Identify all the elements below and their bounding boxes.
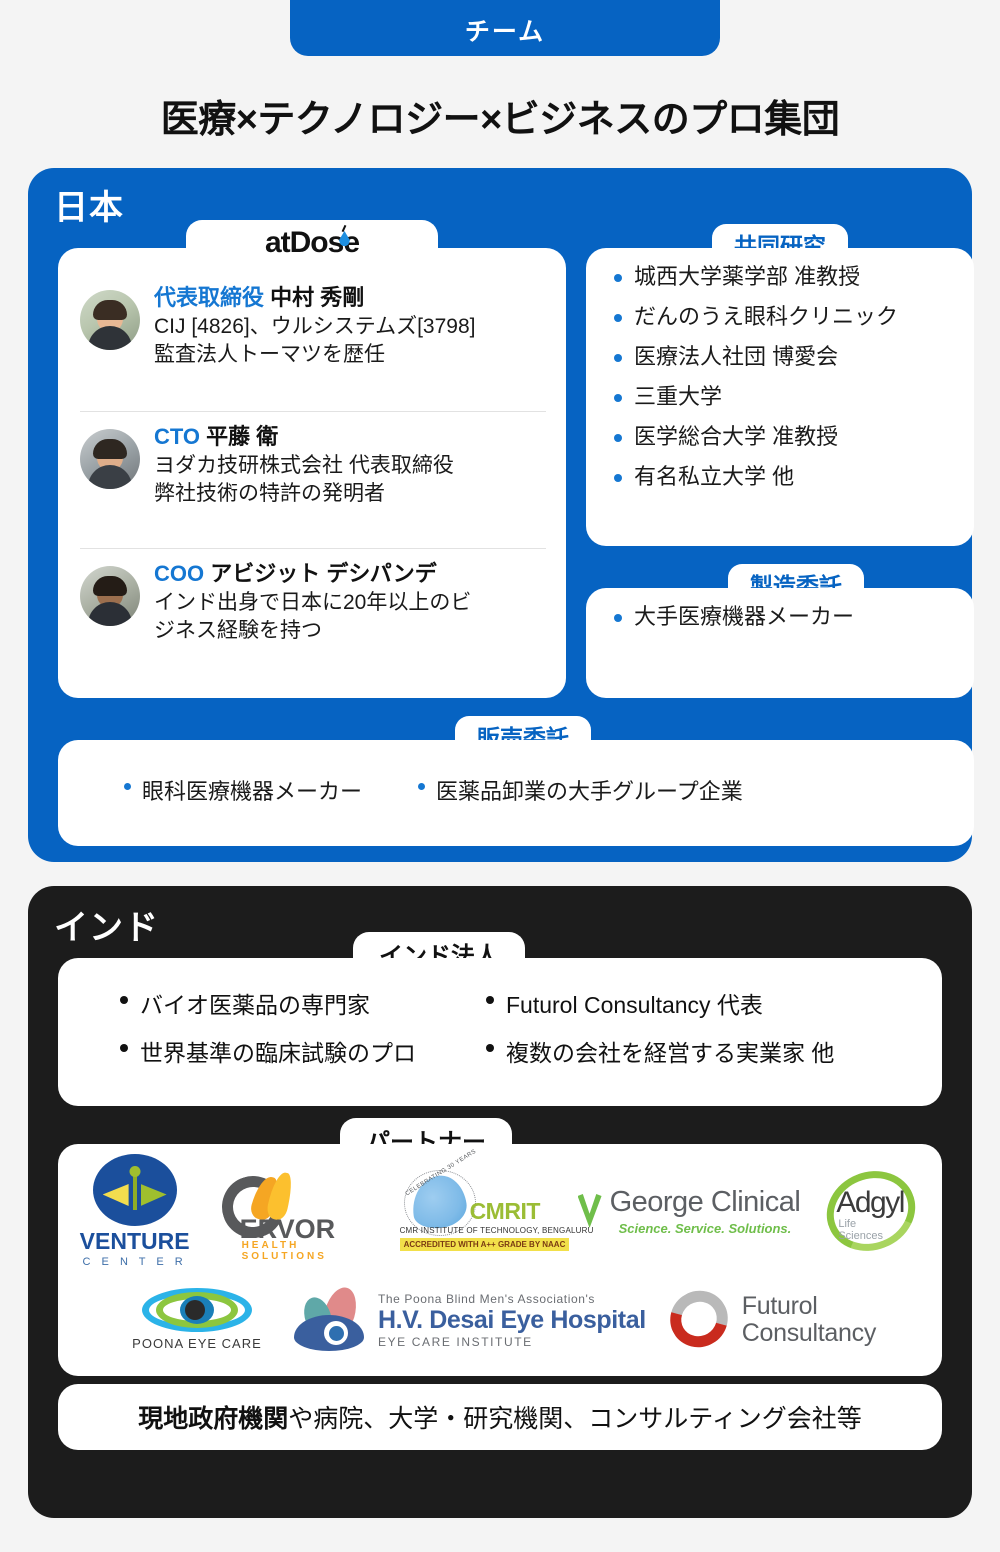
member-desc-line1: CIJ [4826]、ウルシステムズ[3798] xyxy=(154,313,548,340)
poona-eye-care-name: POONA EYE CARE xyxy=(124,1336,270,1351)
team-member-row: CTO 平藤 衛 ヨダカ技研株式会社 代表取締役 弊社技術の特許の発明者 xyxy=(80,423,548,508)
wing-right-icon xyxy=(141,1184,167,1206)
japan-panel-title: 日本 xyxy=(54,180,124,229)
list-item: 三重大学 xyxy=(612,386,952,408)
hv-desai-line3: EYE CARE INSTITUTE xyxy=(378,1335,646,1349)
manufacturing-card: 大手医療機器メーカー xyxy=(586,588,974,698)
arrow-bottom-icon xyxy=(660,1280,738,1357)
venture-center-name: VENTURE xyxy=(80,1228,190,1255)
wing-left-icon xyxy=(103,1184,129,1206)
partner-logo-venture-center: VENTURE C E N T E R xyxy=(80,1154,190,1268)
hv-desai-mark-icon xyxy=(292,1285,368,1355)
member-desc-line1: インド出身で日本に20年以上のビ xyxy=(154,589,548,616)
partner-logo-poona-eye-care: POONA EYE CARE xyxy=(124,1278,270,1362)
avatar xyxy=(80,429,140,489)
eye-pupil-icon xyxy=(180,1296,214,1324)
team-member-row: COO アビジット デシパンデ インド出身で日本に20年以上のビ ジネス経験を持… xyxy=(80,560,548,645)
partner-logo-row: POONA EYE CARE The Poona Blind Men's Ass… xyxy=(58,1272,942,1368)
venture-center-sub: C E N T E R xyxy=(83,1256,187,1268)
avatar-hair xyxy=(93,439,127,459)
joint-research-card: 城西大学薬学部 准教授 だんのうえ眼科クリニック 医療法人社団 博愛会 三重大学… xyxy=(586,248,974,546)
list-item: 世界基準の臨床試験のプロ xyxy=(118,1034,468,1068)
partners-caption-rest: や病院、大学・研究機関、コンサルティング会社等 xyxy=(288,1399,862,1435)
adgyl-sub2: Sciences xyxy=(838,1230,883,1242)
leaf-check-icon xyxy=(578,1194,602,1228)
cmrit-name: CMRIT xyxy=(470,1198,540,1225)
member-desc-line2: 監査法人トーマツを歴任 xyxy=(154,341,548,368)
list-item: 医学総合大学 准教授 xyxy=(612,426,952,448)
partner-logo-adgyl: Adgyl Life Sciences xyxy=(824,1168,920,1254)
list-item: だんのうえ眼科クリニック xyxy=(612,306,952,328)
circular-arrow-icon xyxy=(668,1289,732,1351)
dot-icon xyxy=(129,1166,140,1177)
partner-logo-futurol: Futurol Consultancy xyxy=(668,1289,876,1351)
partner-logo-george-clinical: George Clinical Science. Service. Soluti… xyxy=(578,1186,801,1236)
list-item: 眼科医療機器メーカー xyxy=(124,774,362,806)
india-panel-title: インド xyxy=(54,900,159,949)
member-name: 中村 秀剛 xyxy=(270,285,364,310)
venture-center-mark-icon xyxy=(93,1154,177,1226)
hv-desai-line1: The Poona Blind Men's Association's xyxy=(378,1292,646,1306)
row-divider xyxy=(80,411,546,412)
list-item: 大手医療機器メーカー xyxy=(612,606,952,628)
george-clinical-name: George Clinical xyxy=(610,1186,801,1219)
page-title: 医療×テクノロジー×ビジネスのプロ集団 xyxy=(0,88,1000,143)
sales-card: 眼科医療機器メーカー 医薬品卸業の大手グループ企業 xyxy=(58,740,974,846)
futurol-line2: Consultancy xyxy=(742,1320,876,1348)
joint-research-list: 城西大学薬学部 准教授 だんのうえ眼科クリニック 医療法人社団 博愛会 三重大学… xyxy=(586,248,974,488)
partner-logo-row: VENTURE C E N T E R ERVOR HEALTH SOLUTIO… xyxy=(58,1158,942,1264)
member-name: アビジット デシパンデ xyxy=(210,561,437,586)
partner-logo-hv-desai: The Poona Blind Men's Association's H.V.… xyxy=(292,1285,646,1355)
member-desc-line1: ヨダカ技研株式会社 代表取締役 xyxy=(154,452,548,479)
member-desc-line2: 弊社技術の特許の発明者 xyxy=(154,480,548,507)
india-corporation-card: バイオ医薬品の専門家 Futurol Consultancy 代表 世界基準の臨… xyxy=(58,958,942,1106)
avatar xyxy=(80,290,140,350)
stem-icon xyxy=(133,1176,137,1210)
manufacturing-list: 大手医療機器メーカー xyxy=(586,588,974,628)
list-item: 医薬品卸業の大手グループ企業 xyxy=(418,774,743,806)
partner-logo-ervor: ERVOR HEALTH SOLUTIONS xyxy=(214,1170,374,1252)
partners-caption-bold: 現地政府機関 xyxy=(138,1399,288,1435)
cmrit-line2: ACCREDITED WITH A++ GRADE BY NAAC xyxy=(400,1238,570,1251)
atdose-logo-tab: atDose xyxy=(186,220,438,266)
japan-panel: 日本 atDose 代表取締役 中村 秀剛 CIJ [4826]、ウルシステムズ… xyxy=(28,168,972,862)
partners-card: VENTURE C E N T E R ERVOR HEALTH SOLUTIO… xyxy=(58,1144,942,1376)
futurol-line1: Futurol xyxy=(742,1293,876,1321)
row-divider xyxy=(80,548,546,549)
atdose-logo: atDose xyxy=(265,226,359,260)
eye-icon xyxy=(294,1315,364,1351)
atdose-company-card: atDose 代表取締役 中村 秀剛 CIJ [4826]、ウルシステムズ[37… xyxy=(58,248,566,698)
sales-list: 眼科医療機器メーカー 医薬品卸業の大手グループ企業 xyxy=(58,740,974,806)
avatar-hair xyxy=(93,300,127,320)
list-item: 医療法人社団 博愛会 xyxy=(612,346,952,368)
member-name: 平藤 衛 xyxy=(206,424,278,449)
adgyl-name: Adgyl xyxy=(836,1186,904,1220)
member-desc-line2: ジネス経験を持つ xyxy=(154,617,548,644)
partner-logo-cmrit: CELEBRATING 30 YEARS CMRIT CMR INSTITUTE… xyxy=(398,1168,554,1254)
team-member-row: 代表取締役 中村 秀剛 CIJ [4826]、ウルシステムズ[3798] 監査法… xyxy=(80,284,548,369)
india-corporation-list: バイオ医薬品の専門家 Futurol Consultancy 代表 世界基準の臨… xyxy=(58,958,942,1068)
hv-desai-line2: H.V. Desai Eye Hospital xyxy=(378,1306,646,1335)
avatar xyxy=(80,566,140,626)
list-item: 有名私立大学 他 xyxy=(612,466,952,488)
adgyl-sub1: Life xyxy=(838,1218,856,1230)
list-item: 城西大学薬学部 准教授 xyxy=(612,266,952,288)
george-clinical-tagline: Science. Service. Solutions. xyxy=(610,1221,801,1236)
member-role: 代表取締役 xyxy=(154,285,264,310)
team-slide: チーム 医療×テクノロジー×ビジネスのプロ集団 日本 atDose 代表取締役 … xyxy=(0,0,1000,1552)
india-panel: インド インド法人 バイオ医薬品の専門家 Futurol Consultancy… xyxy=(28,886,972,1518)
list-item: Futurol Consultancy 代表 xyxy=(484,986,942,1020)
member-role: CTO xyxy=(154,424,200,449)
section-tab-label: チーム xyxy=(465,12,545,48)
partners-caption: 現地政府機関や病院、大学・研究機関、コンサルティング会社等 xyxy=(58,1384,942,1450)
list-item: 複数の会社を経営する実業家 他 xyxy=(484,1034,942,1068)
section-tab-team: チーム xyxy=(290,0,720,56)
cmrit-line1: CMR INSTITUTE OF TECHNOLOGY, BENGALURU xyxy=(400,1226,594,1235)
ervor-sub: HEALTH SOLUTIONS xyxy=(242,1240,374,1262)
eye-icon xyxy=(142,1282,252,1336)
avatar-hair xyxy=(93,576,127,596)
list-item: バイオ医薬品の専門家 xyxy=(118,986,468,1020)
member-role: COO xyxy=(154,561,204,586)
